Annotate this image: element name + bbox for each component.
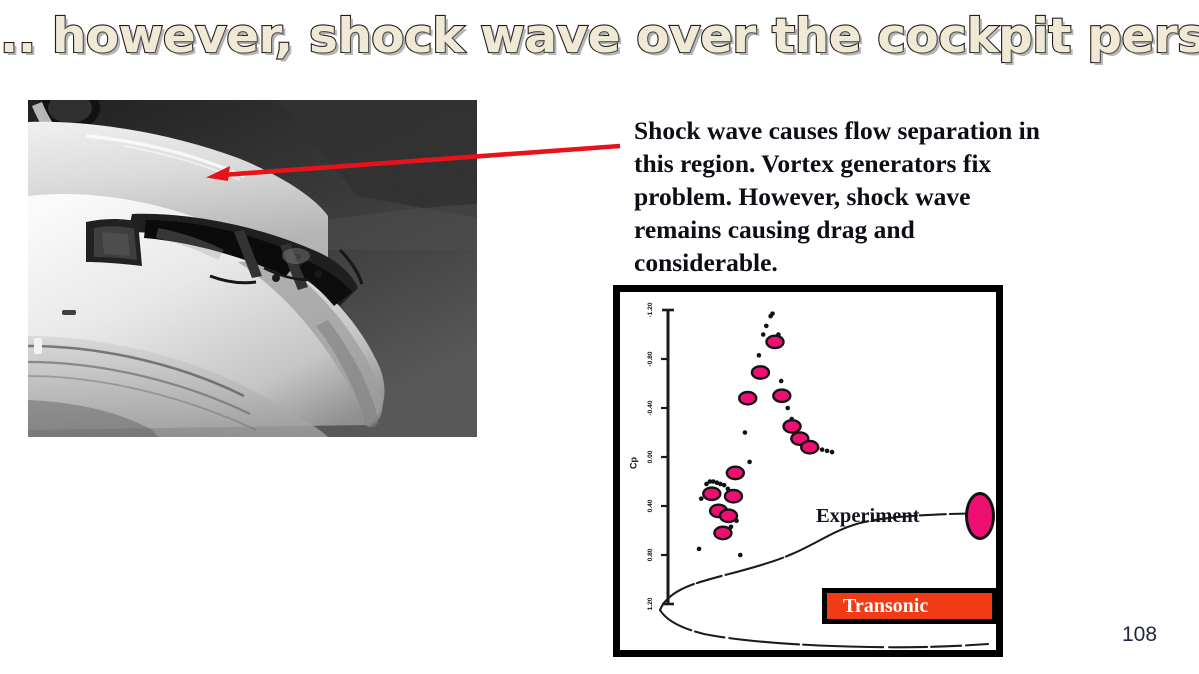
computation-dot (699, 496, 704, 501)
y-tick-4: 0.40 (647, 499, 654, 512)
experiment-marker (703, 488, 720, 500)
computation-dot (820, 447, 825, 452)
computation-dot (697, 547, 702, 552)
experiment-marker (801, 441, 818, 453)
computation-dot (764, 324, 769, 329)
experiment-marker (784, 420, 801, 432)
experiment-marker (767, 336, 784, 348)
computation-dot (738, 553, 743, 558)
computation-dot-series (697, 311, 835, 557)
computation-dot (779, 379, 784, 384)
slide-root: ... however, shock wave over the cockpit… (0, 0, 1199, 674)
page-title: ... however, shock wave over the cockpit… (0, 8, 1199, 66)
y-axis (661, 310, 674, 604)
transonic-banner: Transonic (822, 588, 996, 624)
experiment-marker (714, 527, 731, 539)
experiment-legend-marker (965, 492, 995, 540)
fuselage-profile-outline (660, 513, 988, 647)
y-tick-1: -0.80 (647, 351, 654, 366)
experiment-marker (773, 390, 790, 402)
computation-dot (757, 353, 762, 358)
callout-line-5: considerable. (634, 246, 1179, 279)
experiment-marker (725, 490, 742, 502)
y-tick-3: 0.00 (647, 450, 654, 463)
callout-line-1: Shock wave causes flow separation in (634, 114, 1179, 147)
y-tick-2: -0.40 (647, 400, 654, 415)
experiment-legend-label: Experiment (816, 505, 920, 528)
y-tick-5: 0.80 (647, 548, 654, 561)
callout-description-text: Shock wave causes flow separation in thi… (634, 114, 1179, 279)
computation-dot (830, 450, 835, 455)
transonic-banner-label: Transonic (827, 595, 928, 618)
computation-dot (825, 449, 830, 454)
computation-dot (785, 406, 790, 411)
y-tick-0: -1.20 (647, 302, 654, 317)
page-number: 108 (1122, 623, 1157, 647)
experiment-marker (739, 392, 756, 404)
chart-plot-area: -1.20-0.80-0.400.000.400.801.20 Cp Exper… (620, 292, 996, 650)
computation-dot (761, 332, 766, 337)
callout-line-4: remains causing drag and (634, 213, 1179, 246)
y-tick-6: 1.20 (647, 597, 654, 610)
y-axis-tick-labels: -1.20-0.80-0.400.000.400.801.20 (647, 302, 654, 610)
experiment-marker-series (703, 336, 818, 540)
callout-line-2: this region. Vortex generators fix (634, 147, 1179, 180)
aircraft-cockpit-photo-image (28, 100, 477, 437)
cp-distribution-chart: -1.20-0.80-0.400.000.400.801.20 Cp Exper… (613, 285, 1003, 657)
computation-dot (747, 460, 752, 465)
y-axis-title: Cp (628, 457, 638, 469)
computation-dot (743, 430, 748, 435)
experiment-marker (752, 366, 769, 378)
experiment-marker (720, 510, 737, 522)
computation-dot (722, 483, 727, 488)
callout-line-3: problem. However, shock wave (634, 180, 1179, 213)
computation-dot (770, 311, 775, 316)
aircraft-cockpit-photo (28, 100, 477, 437)
experiment-marker (727, 467, 744, 479)
y-axis-label-text: Cp (628, 457, 638, 469)
